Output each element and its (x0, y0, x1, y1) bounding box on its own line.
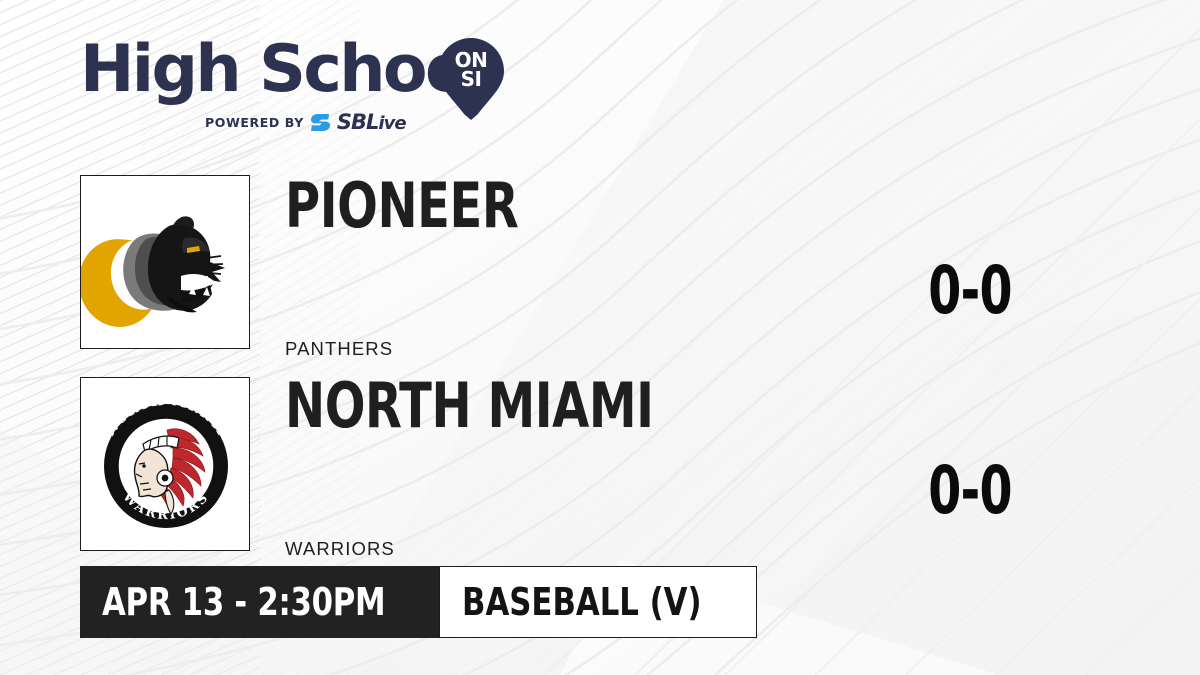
team-logo-box-1 (80, 175, 250, 349)
team-name-2: NORTH MIAMI (285, 375, 654, 437)
brand-logo: High School ON SI POWERED BY SBLive (80, 36, 550, 136)
brand-wordmark: High School (80, 36, 487, 104)
partner-name: SBLive (337, 110, 406, 134)
game-datetime-chip: APR 13 - 2:30PM (80, 566, 439, 638)
pioneer-panthers-logo (81, 176, 250, 349)
powered-by-label: POWERED BY (205, 115, 304, 130)
partner-name-bold: SBL (337, 110, 379, 134)
powered-by-row: POWERED BY SBLive (205, 110, 406, 134)
team-record-2: 0-0 (882, 458, 1058, 524)
game-sport-chip: BASEBALL (V) (439, 566, 757, 638)
game-datetime-text: APR 13 - 2:30PM (102, 583, 385, 621)
team-record-1: 0-0 (882, 258, 1058, 324)
team-mascot-1: PANTHERS (285, 338, 393, 360)
map-pin-icon: ON SI (438, 38, 504, 120)
north-miami-warriors-logo: NORTH MIAMI WARRIORS (81, 378, 250, 551)
matchup-graphic: High School ON SI POWERED BY SBLive (0, 0, 1200, 675)
sblive-bolt-icon (311, 114, 330, 131)
game-info-bar: APR 13 - 2:30PM BASEBALL (V) (80, 566, 757, 638)
partner-name-rest: ive (378, 113, 405, 134)
pin-label-si: SI (438, 70, 504, 89)
team-logo-box-2: NORTH MIAMI WARRIORS (80, 377, 250, 551)
team-mascot-2: WARRIORS (285, 538, 395, 560)
game-sport-text: BASEBALL (V) (462, 583, 702, 621)
team-name-1: PIONEER (285, 175, 518, 237)
